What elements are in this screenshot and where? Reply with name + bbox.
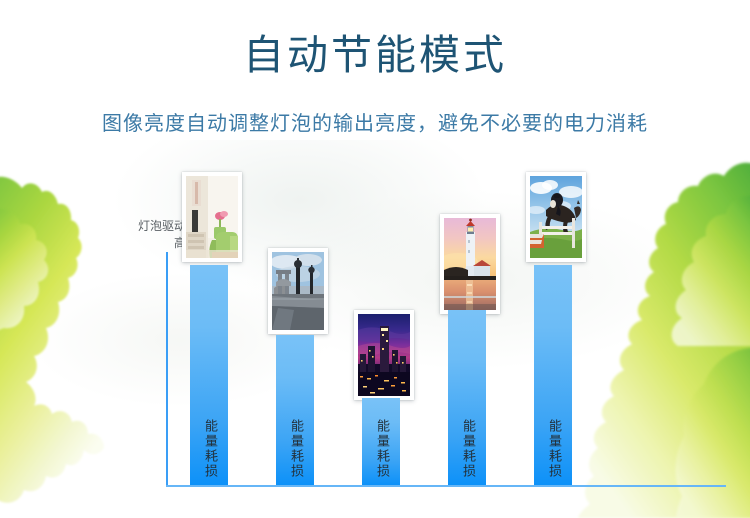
bar-1: 能量耗损 <box>190 265 228 485</box>
thumbnail-night-city <box>354 310 414 400</box>
bar-2: 能量耗损 <box>276 335 314 485</box>
y-axis-label-line2: 高 <box>104 235 186 252</box>
thumbnail-bright-interior <box>182 172 242 262</box>
thumbnail-horse-jumping <box>526 172 586 262</box>
bar-label-3: 能量耗损 <box>362 419 400 479</box>
y-axis-label-line1: 灯泡驱动 <box>138 219 186 233</box>
bar-label-2: 能量耗损 <box>276 419 314 479</box>
y-axis-line <box>166 252 168 486</box>
bar-3: 能量耗损 <box>362 398 400 485</box>
bar-label-5: 能量耗损 <box>534 419 572 479</box>
bar-5: 能量耗损 <box>534 265 572 485</box>
sunset-lighthouse-photo <box>444 218 496 310</box>
energy-saving-poster: 自动节能模式 图像亮度自动调整灯泡的输出亮度，避免不必要的电力消耗 灯泡驱动 高 <box>0 0 750 518</box>
bar-4: 能量耗损 <box>448 310 486 485</box>
bar-label-1: 能量耗损 <box>190 419 228 479</box>
daylight-bridge-lamp-posts-photo <box>272 252 324 330</box>
night-city-skyline-photo <box>358 314 410 396</box>
thumbnail-daylight-bridge <box>268 248 328 334</box>
bar-label-4: 能量耗损 <box>448 419 486 479</box>
energy-consumption-bar-chart: 灯泡驱动 高 <box>0 0 750 518</box>
y-axis-label: 灯泡驱动 高 <box>104 218 186 252</box>
thumbnail-sunset-lighthouse <box>440 214 500 314</box>
horse-jumping-blue-sky-photo <box>530 176 582 258</box>
bright-interior-green-chair-photo <box>186 176 238 258</box>
x-axis-line <box>166 485 726 487</box>
